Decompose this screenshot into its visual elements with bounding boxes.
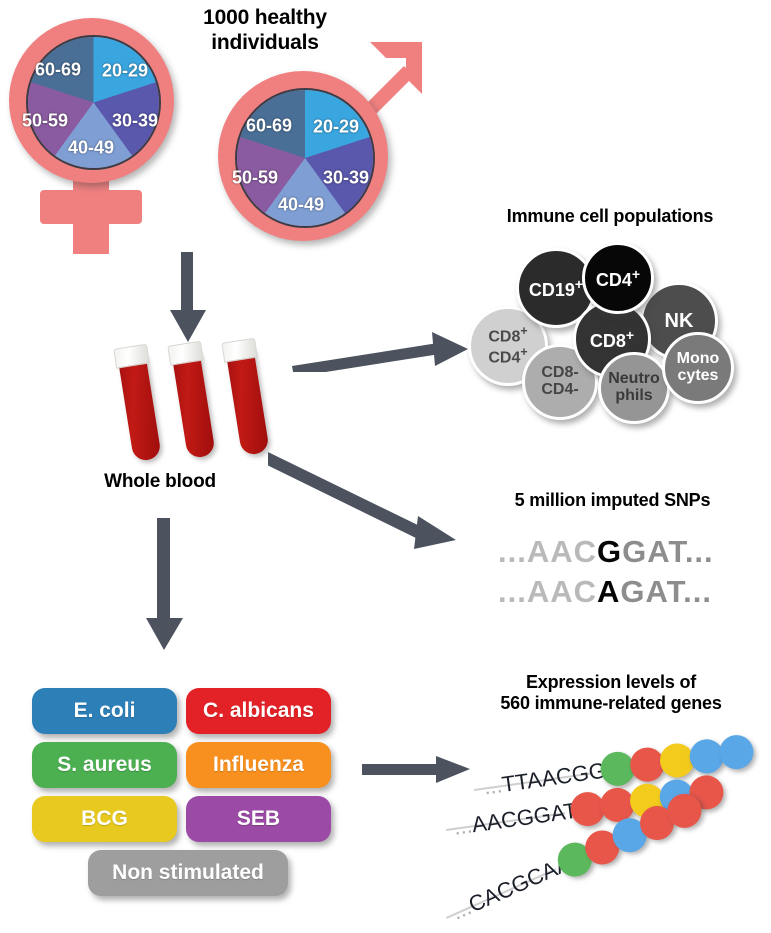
stimulation-box-non-stimulated[interactable]: Non stimulated <box>88 850 288 896</box>
arrow-blood-to-snps <box>268 452 463 562</box>
cell-label-line2: phils <box>608 388 660 405</box>
blood-tube <box>116 343 167 472</box>
cell-label-line2: cytes <box>677 368 720 385</box>
cell-label: CD8+ <box>590 328 634 351</box>
arrow-blood-to-immune-cells <box>292 326 470 372</box>
pie-label-60-69: 60-69 <box>35 60 81 81</box>
expression-heading-line-2: 560 immune-related genes <box>455 693 767 714</box>
expression-heading-line-1: Expression levels of <box>455 672 767 693</box>
cell-neutrophils: Neutro phils <box>598 352 670 424</box>
stimulation-label: Non stimulated <box>112 861 264 885</box>
stimulation-box-bcg[interactable]: BCG <box>32 796 177 842</box>
gene-bead <box>717 733 755 771</box>
male-symbol: 20-29 30-39 40-49 50-59 60-69 <box>200 36 430 251</box>
snp-suffix: GAT... <box>622 534 714 569</box>
blood-tubes <box>108 340 288 470</box>
cell-label: CD4+ <box>596 267 640 290</box>
tube-blood-fill <box>226 348 270 456</box>
expression-strands: ...TTAACGG ...AACGGAT ...CACGCAA <box>452 740 771 915</box>
stimulation-label: SEB <box>237 807 280 831</box>
snp-variant-allele: A <box>597 574 620 609</box>
female-symbol: 20-29 30-39 40-49 50-59 60-69 <box>0 8 200 248</box>
blood-tube <box>224 337 275 466</box>
pie-label-60-69: 60-69 <box>246 116 292 137</box>
stimulation-label: BCG <box>81 807 128 831</box>
snp-suffix: GAT... <box>620 574 712 609</box>
snp-prefix: ...AAC <box>498 534 597 569</box>
stimulation-label: Influenza <box>213 753 304 777</box>
stimulation-box-c-albicans[interactable]: C. albicans <box>186 688 331 734</box>
stimulation-label: C. albicans <box>203 699 314 723</box>
cell-label-line1: Mono <box>677 351 720 368</box>
tube-blood-fill <box>118 354 162 462</box>
arrow-cohort-to-blood <box>165 252 211 344</box>
whole-blood-label: Whole blood <box>55 471 265 493</box>
snp-sequence-row: ...AACGGAT... <box>498 534 714 570</box>
pie-label-30-39: 30-39 <box>112 111 158 132</box>
expression-heading: Expression levels of 560 immune-related … <box>455 672 767 714</box>
stimulation-label: E. coli <box>74 699 136 723</box>
pie-label-20-29: 20-29 <box>102 61 148 82</box>
strand-sequence: ...CACGCAA <box>448 850 575 925</box>
female-crossbar <box>40 190 142 224</box>
pie-label-20-29: 20-29 <box>313 117 359 138</box>
cell-label: CD19+ <box>529 277 583 300</box>
strand-sequence: ...AACGGAT <box>452 798 579 841</box>
cell-cd4plus: CD4+ <box>582 242 654 314</box>
pie-label-40-49: 40-49 <box>68 138 114 159</box>
stimulation-box-s-aureus[interactable]: S. aureus <box>32 742 177 788</box>
cell-label-line1: Neutro <box>608 371 660 388</box>
pie-label-50-59: 50-59 <box>232 168 278 189</box>
pie-label-30-39: 30-39 <box>323 168 369 189</box>
immune-cell-cluster: CD8+ CD4+ CD8- CD4- NK CD19+ CD8+ CD4+ N… <box>468 242 768 432</box>
cell-label-line2: CD4+ <box>488 346 527 367</box>
immune-cells-heading: Immune cell populations <box>455 206 765 227</box>
stimulation-box-influenza[interactable]: Influenza <box>186 742 331 788</box>
cell-label-line2: CD4- <box>541 382 578 399</box>
snp-prefix: ...AAC <box>498 574 597 609</box>
snp-variant-allele: G <box>597 534 622 569</box>
blood-tube <box>170 340 221 469</box>
snp-sequence-row: ...AACAGAT... <box>498 574 712 610</box>
cell-monocytes: Mono cytes <box>662 332 734 404</box>
pie-label-50-59: 50-59 <box>22 111 68 132</box>
stimulation-box-e-coli[interactable]: E. coli <box>32 688 177 734</box>
snps-heading: 5 million imputed SNPs <box>465 490 760 511</box>
pie-label-40-49: 40-49 <box>278 195 324 216</box>
cell-label-line1: CD8+ <box>488 325 527 346</box>
figure-canvas: 1000 healthy individuals 20-29 30-39 40-… <box>0 0 771 922</box>
arrow-blood-to-stimulation <box>140 518 190 652</box>
stimulation-box-seb[interactable]: SEB <box>186 796 331 842</box>
cell-label-line1: CD8- <box>541 365 578 382</box>
cell-label: NK <box>665 311 694 332</box>
tube-blood-fill <box>172 351 216 459</box>
stimulation-label: S. aureus <box>57 753 152 777</box>
